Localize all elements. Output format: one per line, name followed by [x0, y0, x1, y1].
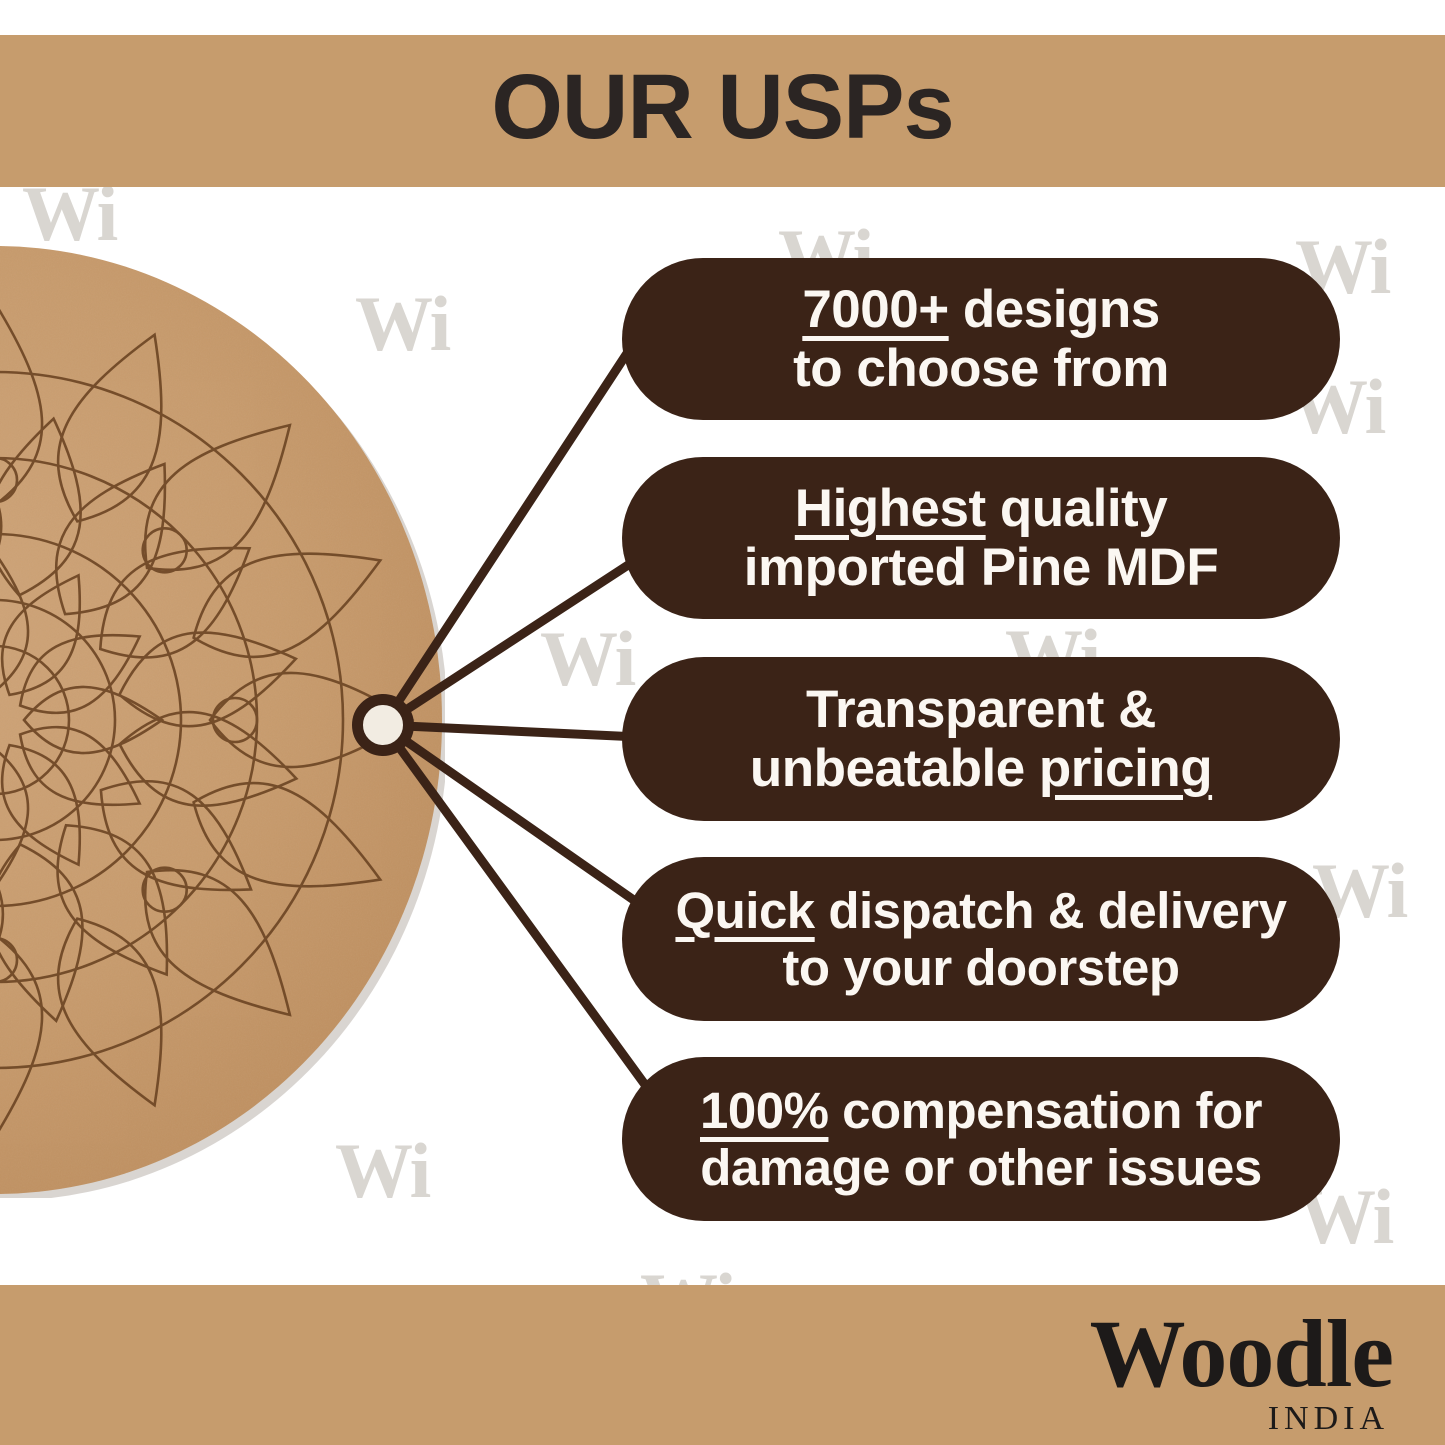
usp-emphasis-3: pricing [1039, 739, 1212, 798]
usp-pill-pricing[interactable]: Transparent & unbeatable pricing [622, 657, 1340, 821]
usp-line2-4: to your doorstep [782, 939, 1179, 996]
usp-line1-3: Transparent & [806, 680, 1156, 739]
usp-line2-1: to choose from [793, 339, 1169, 398]
usp-line1-rest-4: dispatch & delivery [815, 882, 1287, 939]
brand-subtitle: INDIA [1090, 1402, 1389, 1436]
usp-text-quality: Highest quality imported Pine MDF [744, 479, 1218, 598]
connector-line-3 [383, 725, 660, 738]
connector-line-2 [383, 552, 648, 725]
connector-line-4 [383, 725, 648, 910]
usp-pill-quality[interactable]: Highest quality imported Pine MDF [622, 457, 1340, 619]
usp-text-compensation: 100% compensation for damage or other is… [700, 1082, 1262, 1196]
infographic-canvas: Wi Wi Wi Wi Wi Wi Wi Wi Wi Wi Wi [0, 0, 1445, 1445]
usp-line2-prefix-3: unbeatable [750, 739, 1039, 798]
connector-line-1 [383, 300, 662, 725]
usp-text-designs: 7000+ designs to choose from [793, 280, 1169, 399]
hub-node [352, 694, 414, 756]
usp-line2-2: imported Pine MDF [744, 538, 1218, 597]
usp-emphasis-4: Quick [675, 882, 814, 939]
usp-line2-5: damage or other issues [700, 1139, 1262, 1196]
usp-text-pricing: Transparent & unbeatable pricing [750, 680, 1212, 799]
brand-wordmark: Woodle [1090, 1308, 1393, 1400]
usp-emphasis-1: 7000+ [802, 280, 948, 339]
usp-text-dispatch: Quick dispatch & delivery to your doorst… [675, 882, 1286, 996]
usp-emphasis-2: Highest [795, 479, 986, 538]
usp-line1-rest-1: designs [949, 280, 1160, 339]
usp-line1-rest-5: compensation for [828, 1082, 1262, 1139]
connector-line-5 [383, 725, 662, 1108]
usp-pill-compensation[interactable]: 100% compensation for damage or other is… [622, 1057, 1340, 1221]
usp-pill-designs[interactable]: 7000+ designs to choose from [622, 258, 1340, 420]
page-title: OUR USPs [0, 55, 1445, 160]
usp-pill-dispatch[interactable]: Quick dispatch & delivery to your doorst… [622, 857, 1340, 1021]
brand-logo: Woodle INDIA [1090, 1308, 1393, 1436]
usp-emphasis-5: 100% [700, 1082, 828, 1139]
usp-line1-rest-2: quality [986, 479, 1168, 538]
